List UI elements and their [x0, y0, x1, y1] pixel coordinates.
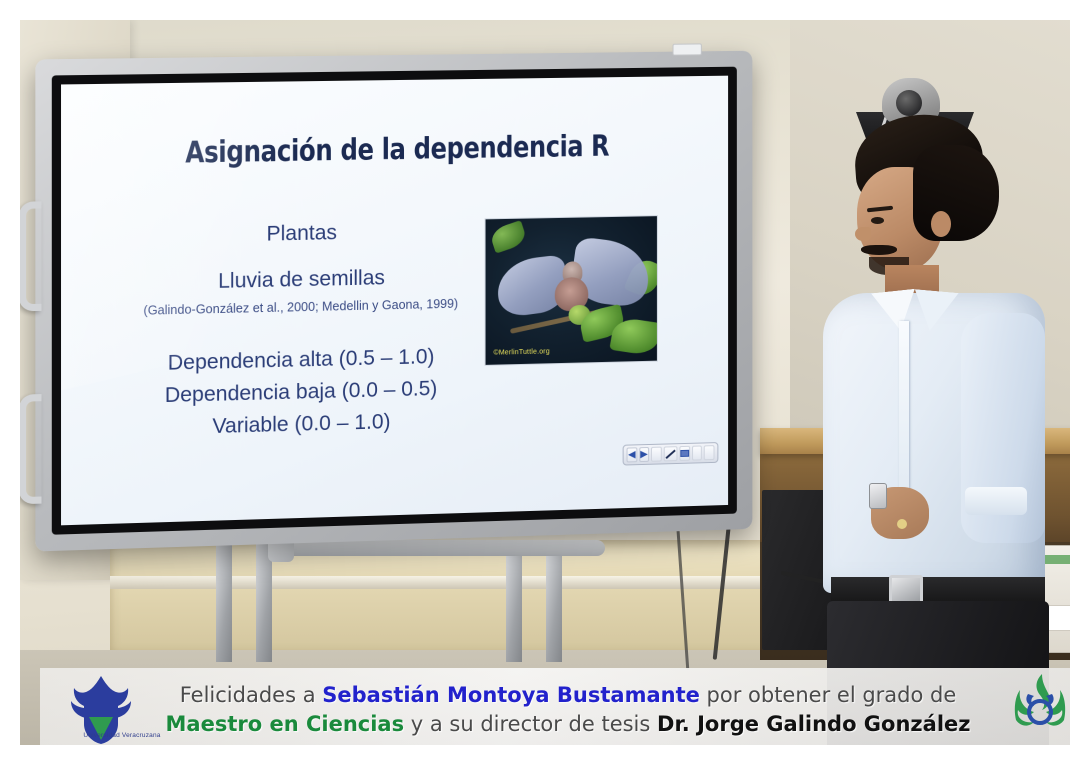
presentation-slide: Asignación de la dependencia R Plantas L…: [61, 76, 728, 526]
presentation-toolbar[interactable]: ◀ ▶: [623, 442, 719, 465]
presenter-moustache: [861, 245, 897, 255]
presenter-hair-back: [913, 145, 999, 241]
banner-text-block: Felicidades a Sebastián Montoya Bustaman…: [148, 672, 988, 745]
display-stand-bar: [275, 540, 605, 556]
banner-line2-mid: y a su director de tesis: [404, 712, 657, 736]
banner-line-2: Maestro en Ciencias y a su director de t…: [166, 710, 971, 739]
display-inner-frame: Asignación de la dependencia R Plantas L…: [52, 67, 737, 535]
presenter: [815, 115, 1050, 660]
stand-post: [506, 542, 522, 662]
leaf-shape: [489, 220, 528, 254]
presentation-remote[interactable]: [869, 483, 887, 509]
highlighter-icon[interactable]: [651, 447, 661, 462]
wall-niche-lip: [110, 576, 790, 589]
display-brand-badge: [673, 43, 702, 55]
presenter-ear: [931, 211, 951, 237]
slide-title: Asignación de la dependencia R: [116, 128, 676, 171]
slide-text-column: Plantas Lluvia de semillas (Galindo-Gonz…: [104, 218, 496, 446]
stand-post: [546, 542, 562, 662]
graduate-name: Sebastián Montoya Bustamante: [322, 683, 700, 707]
interactive-whiteboard-display[interactable]: Asignación de la dependencia R Plantas L…: [40, 55, 758, 540]
presenter-eye: [871, 217, 884, 224]
universidad-veracruzana-logo: Universidad Veracruzana: [62, 674, 140, 745]
presenter-cuff: [965, 487, 1027, 515]
degree-name: Maestro en Ciencias: [166, 712, 405, 736]
presenter-nose: [855, 227, 871, 241]
camera-lens-icon: [896, 90, 922, 116]
tools-icon[interactable]: [704, 445, 714, 460]
thesis-director-name: Dr. Jorge Galindo González: [657, 712, 970, 736]
photo-white-border: Asignación de la dependencia R Plantas L…: [0, 0, 1090, 760]
pen-icon[interactable]: [664, 446, 678, 461]
stand-post: [216, 542, 232, 662]
slide-heading-lluvia: Lluvia de semillas: [104, 264, 496, 296]
photo-credit-watermark: ©MerlinTuttle.org: [493, 348, 549, 356]
photograph: Asignación de la dependencia R Plantas L…: [20, 20, 1070, 745]
display-handle[interactable]: [20, 201, 42, 311]
banner-line1-post: por obtener el grado de: [700, 683, 956, 707]
inbioteca-logo: Inbioteca: [998, 672, 1070, 745]
display-screen[interactable]: Asignación de la dependencia R Plantas L…: [61, 76, 728, 526]
screen-icon[interactable]: [679, 446, 690, 461]
display-bezel: Asignación de la dependencia R Plantas L…: [35, 51, 752, 552]
note-icon[interactable]: [692, 445, 702, 460]
slide-bat-photo: ©MerlinTuttle.org: [485, 215, 658, 366]
previous-slide-icon[interactable]: ◀: [627, 447, 637, 462]
banner-line1-pre: Felicidades a: [180, 683, 323, 707]
next-slide-icon[interactable]: ▶: [639, 447, 649, 462]
display-handle[interactable]: [20, 394, 42, 504]
wall-niche: [110, 540, 790, 650]
presenter-ring: [897, 519, 907, 529]
slide-heading-plantas: Plantas: [104, 218, 496, 250]
congratulations-banner: Universidad Veracruzana Felicidades a Se…: [40, 668, 1070, 745]
slide-citation: (Galindo-González et al., 2000; Medellin…: [104, 296, 496, 319]
banner-line-1: Felicidades a Sebastián Montoya Bustaman…: [180, 681, 957, 710]
presenter-belt: [831, 577, 1045, 603]
